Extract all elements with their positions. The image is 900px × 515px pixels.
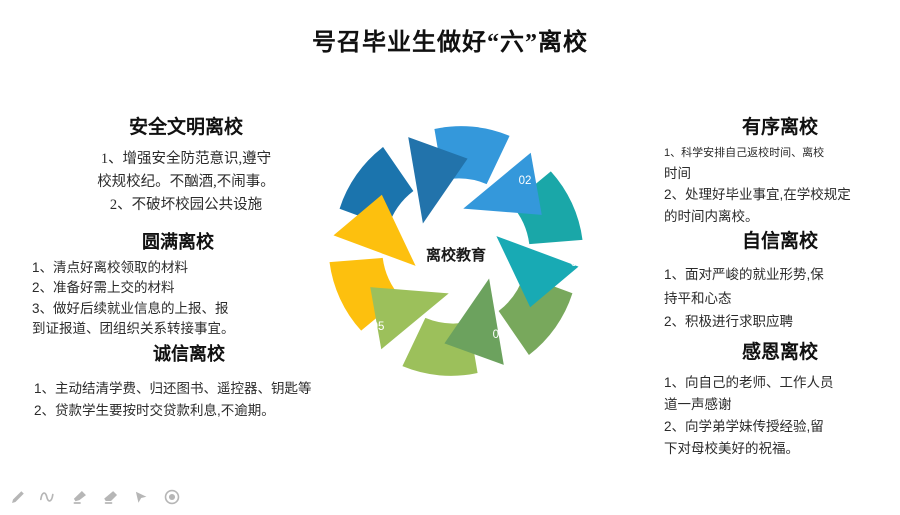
text-block-complete: 圆满离校 1、清点好离校领取的材料 2、准备好需上交的材料 3、做好后续就业信息… [32, 228, 324, 339]
laser-pointer-icon[interactable] [161, 486, 183, 508]
segment-number-05: 05 [372, 321, 385, 333]
block-line: 1、向自己的老师、工作人员 [664, 372, 896, 394]
segment-number-06: 06 [325, 241, 338, 253]
squiggle-line-icon[interactable] [37, 486, 59, 508]
block-line: 1、科学安排自己返校时间、离校 [664, 145, 896, 163]
block-title-confidence: 自信离校 [664, 226, 896, 253]
block-title-integrity: 诚信离校 [34, 340, 344, 366]
block-line: 2、处理好毕业事宜,在学校规定 [664, 184, 896, 206]
text-block-safety: 安全文明离校 1、增强安全防范意识,遵守 校规校纪。不酗酒,不闹事。 2、不破坏… [46, 112, 326, 218]
block-line: 2、积极进行求职应聘 [664, 310, 896, 334]
text-block-gratitude: 感恩离校 1、向自己的老师、工作人员 道一声感谢 2、向学弟学妹传授经验,留 下… [664, 337, 896, 459]
block-line: 道一声感谢 [664, 394, 896, 416]
pen-icon[interactable] [6, 486, 28, 508]
block-body-gratitude: 1、向自己的老师、工作人员 道一声感谢 2、向学弟学妹传授经验,留 下对母校美好… [664, 372, 896, 459]
block-line: 2、不破坏校园公共设施 [46, 194, 326, 217]
block-body-confidence: 1、面对严峻的就业形势,保 持平和心态 2、积极进行求职应聘 [664, 263, 896, 334]
cycle-diagram: 01 02 03 04 05 06 离校教育 [303, 98, 609, 404]
block-title-gratitude: 感恩离校 [664, 337, 896, 364]
segment-number-03: 03 [571, 257, 584, 269]
block-title-orderly: 有序离校 [664, 112, 896, 139]
pointer-arrow-icon[interactable] [130, 486, 152, 508]
page-title: 号召毕业生做好“六”离校 [0, 22, 900, 57]
block-line: 1、主动结清学费、归还图书、遥控器、钥匙等 [34, 378, 344, 400]
block-body-complete: 1、清点好离校领取的材料 2、准备好需上交的材料 3、做好后续就业信息的上报、报… [32, 258, 324, 339]
block-line: 2、向学弟学妹传授经验,留 [664, 416, 896, 438]
text-block-confidence: 自信离校 1、面对严峻的就业形势,保 持平和心态 2、积极进行求职应聘 [664, 226, 896, 334]
block-line: 持平和心态 [664, 287, 896, 311]
segment-number-02: 02 [519, 175, 532, 187]
block-line: 1、清点好离校领取的材料 [32, 258, 324, 278]
segment-number-01: 01 [400, 157, 413, 169]
ink-toolbar[interactable] [6, 483, 183, 511]
block-line: 校规校纪。不酗酒,不闹事。 [46, 171, 326, 194]
block-line: 的时间内离校。 [664, 206, 896, 228]
highlighter-icon[interactable] [68, 486, 90, 508]
block-line: 2、准备好需上交的材料 [32, 278, 324, 298]
block-line: 1、面对严峻的就业形势,保 [664, 263, 896, 287]
block-body-safety: 1、增强安全防范意识,遵守 校规校纪。不酗酒,不闹事。 2、不破坏校园公共设施 [46, 148, 326, 218]
block-title-complete: 圆满离校 [32, 228, 324, 254]
block-title-safety: 安全文明离校 [46, 112, 326, 139]
block-body-integrity: 1、主动结清学费、归还图书、遥控器、钥匙等 2、贷款学生要按时交贷款利息,不逾期… [34, 378, 344, 421]
diagram-center-label: 离校教育 [426, 246, 486, 264]
block-line: 3、做好后续就业信息的上报、报 [32, 299, 324, 319]
block-line: 2、贷款学生要按时交贷款利息,不逾期。 [34, 400, 344, 422]
block-line: 下对母校美好的祝福。 [664, 438, 896, 460]
block-line: 1、增强安全防范意识,遵守 [46, 148, 326, 171]
presentation-slide: 号召毕业生做好“六”离校 安全文明离校 1、增强安全防范意识,遵守 校规校纪。不… [0, 0, 900, 515]
block-line: 到证报道、团组织关系转接事宜。 [32, 319, 324, 339]
segment-number-04: 04 [493, 329, 506, 341]
text-block-integrity: 诚信离校 1、主动结清学费、归还图书、遥控器、钥匙等 2、贷款学生要按时交贷款利… [34, 340, 344, 421]
text-block-orderly: 有序离校 1、科学安排自己返校时间、离校 时间 2、处理好毕业事宜,在学校规定 … [664, 112, 896, 227]
block-body-orderly: 1、科学安排自己返校时间、离校 时间 2、处理好毕业事宜,在学校规定 的时间内离… [664, 145, 896, 227]
block-line: 时间 [664, 163, 896, 185]
eraser-icon[interactable] [99, 486, 121, 508]
